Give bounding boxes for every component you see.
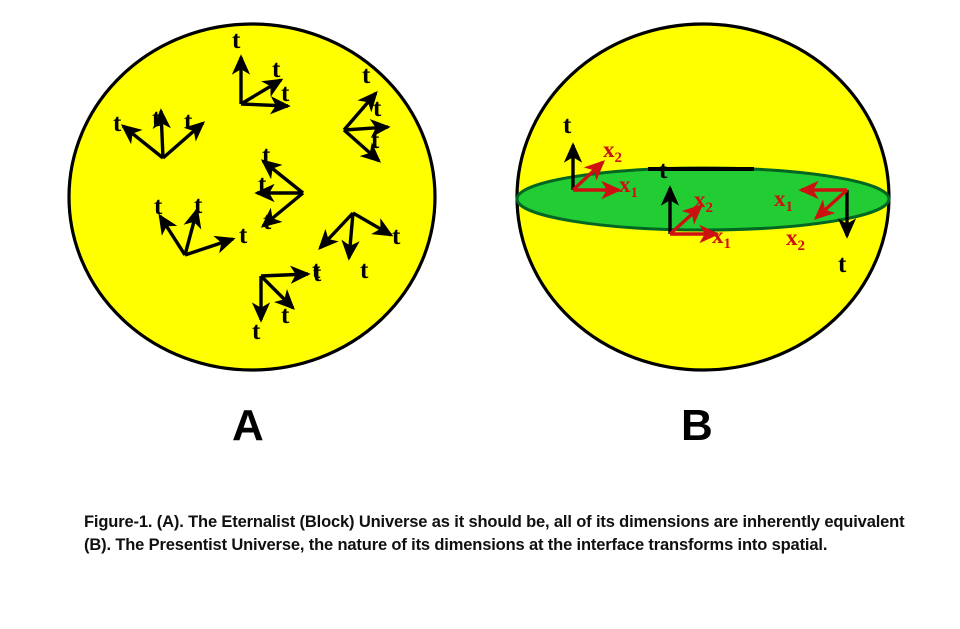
tripod-a-4-label-3: t [263, 208, 272, 235]
tripod-a-4-label-1: t [262, 142, 271, 169]
tripod-a-1-arrow-2 [161, 111, 163, 158]
tripod-a-2-label-1: t [232, 27, 241, 54]
tripod-a-1-label-2: t [152, 105, 161, 132]
tripod-a-3-label-1: t [362, 62, 371, 89]
tripod-a-7-arrow-1 [261, 274, 308, 276]
panel-b-letter: B [681, 401, 713, 450]
tripod-a-5-label-3: t [239, 222, 248, 249]
tripod-a-2-label-2: t [272, 56, 281, 83]
tripod-b-center-time-label: t [659, 157, 668, 184]
figure-1-container: tttttttttttttttttttttA tx2x1tx2x1tx1x2B … [0, 0, 960, 629]
tripod-a-7-label-1: t [313, 260, 322, 287]
panel-b: tx2x1tx2x1tx1x2B [517, 24, 889, 450]
tripod-a-6-label-3: t [392, 223, 401, 250]
tripod-a-3-label-2: t [373, 95, 382, 122]
tripod-a-1-label-1: t [113, 110, 122, 137]
tripod-b-right-time-label: t [838, 251, 847, 278]
tripod-a-4-label-2: t [258, 171, 267, 198]
panel-a-letter: A [232, 401, 264, 450]
tripod-a-5-label-2: t [194, 192, 203, 219]
tripod-a-2-label-3: t [281, 80, 290, 107]
tripod-a-3-label-3: t [371, 127, 380, 154]
tripod-a-6-label-2: t [360, 257, 369, 284]
tripod-a-7-label-3: t [252, 318, 261, 345]
tripod-a-1-label-3: t [184, 108, 193, 135]
tripod-b-left-time-label: t [563, 112, 572, 139]
tripod-a-7-label-2: t [281, 302, 290, 329]
figure-caption: Figure-1. (A). The Eternalist (Block) Un… [84, 511, 928, 556]
panel-a: tttttttttttttttttttttA [69, 24, 435, 450]
tripod-a-5-label-1: t [154, 193, 163, 220]
